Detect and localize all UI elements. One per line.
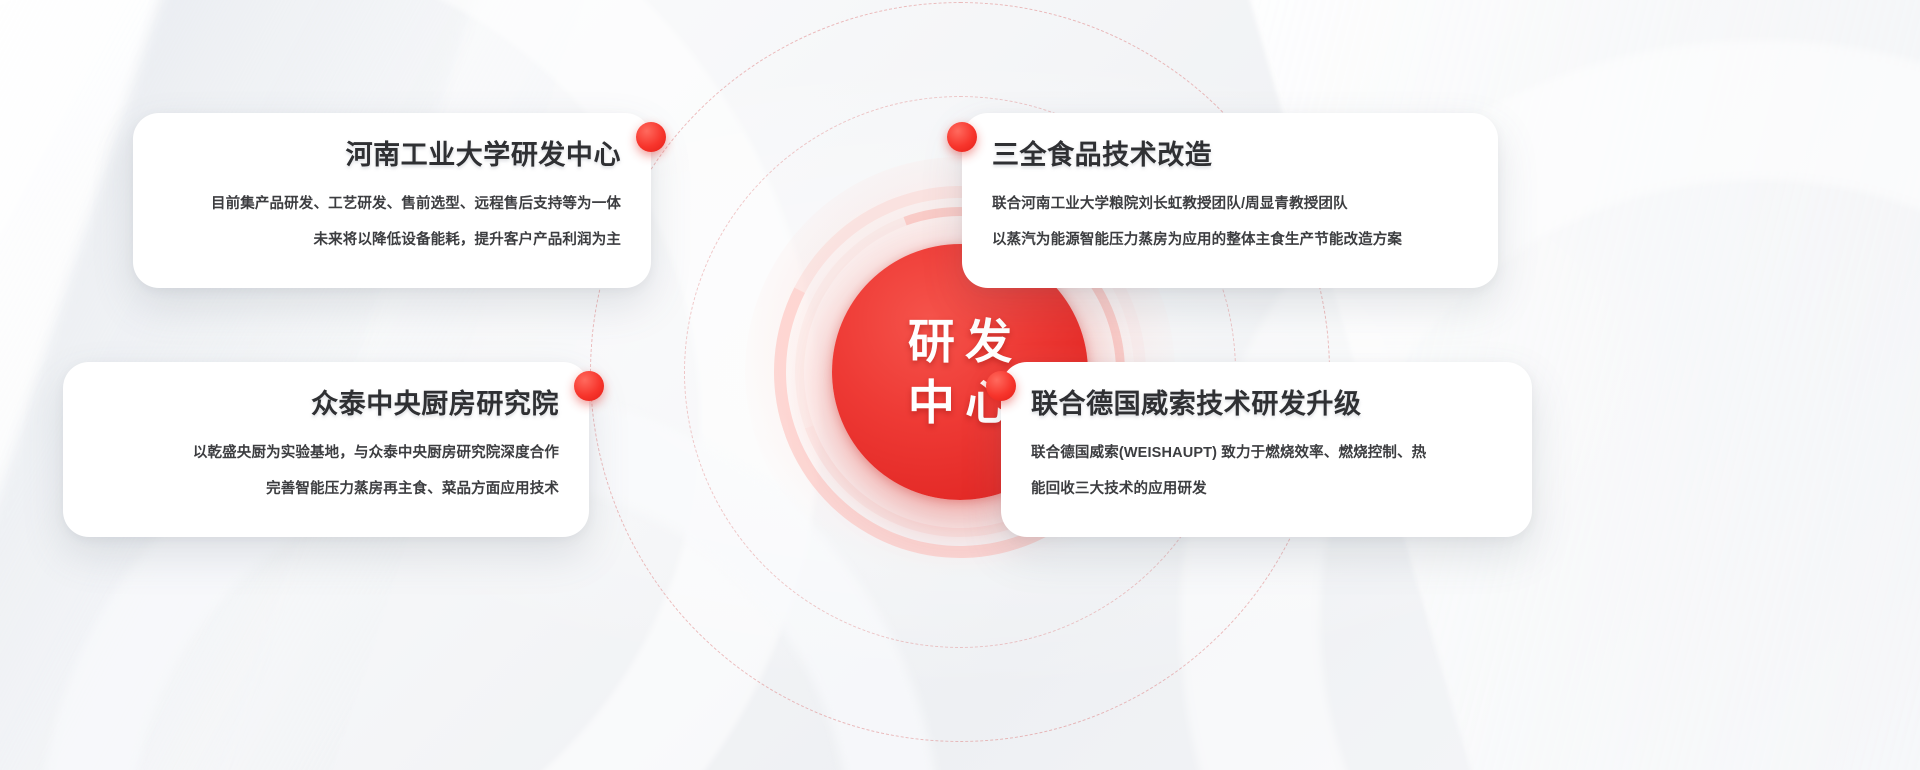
- info-card-zhongtai-central-kitchen-institute[interactable]: 众泰中央厨房研究院 以乾盛央厨为实验基地，与众泰中央厨房研究院深度合作 完善智能…: [63, 362, 589, 537]
- card-line: 联合河南工业大学粮院刘长虹教授团队/周显青教授团队: [992, 187, 1468, 223]
- info-card-weishaupt-joint-rd-upgrade[interactable]: 联合德国威索技术研发升级 联合德国威索(WEISHAUPT) 致力于燃烧效率、燃…: [1001, 362, 1532, 537]
- center-label-line1: 研发: [897, 318, 1022, 365]
- card-title: 三全食品技术改造: [992, 139, 1468, 171]
- red-dot-icon: [947, 122, 977, 152]
- card-title: 众泰中央厨房研究院: [93, 388, 559, 420]
- info-card-sanquan-food-tech-upgrade[interactable]: 三全食品技术改造 联合河南工业大学粮院刘长虹教授团队/周显青教授团队 以蒸汽为能…: [962, 113, 1498, 288]
- card-title: 河南工业大学研发中心: [163, 139, 621, 171]
- red-dot-icon: [986, 371, 1016, 401]
- card-line: 以乾盛央厨为实验基地，与众泰中央厨房研究院深度合作: [93, 436, 559, 472]
- red-dot-icon: [636, 122, 666, 152]
- card-line: 以蒸汽为能源智能压力蒸房为应用的整体主食生产节能改造方案: [992, 223, 1468, 259]
- info-card-henan-university-rd-center[interactable]: 河南工业大学研发中心 目前集产品研发、工艺研发、售前选型、远程售后支持等为一体 …: [133, 113, 651, 288]
- card-line: 联合德国威索(WEISHAUPT) 致力于燃烧效率、燃烧控制、热: [1031, 436, 1502, 472]
- red-dot-icon: [574, 371, 604, 401]
- card-line: 目前集产品研发、工艺研发、售前选型、远程售后支持等为一体: [163, 187, 621, 223]
- card-line: 能回收三大技术的应用研发: [1031, 472, 1502, 508]
- card-title: 联合德国威索技术研发升级: [1031, 388, 1502, 420]
- card-line: 完善智能压力蒸房再主食、菜品方面应用技术: [93, 472, 559, 508]
- card-line: 未来将以降低设备能耗，提升客户产品利润为主: [163, 223, 621, 259]
